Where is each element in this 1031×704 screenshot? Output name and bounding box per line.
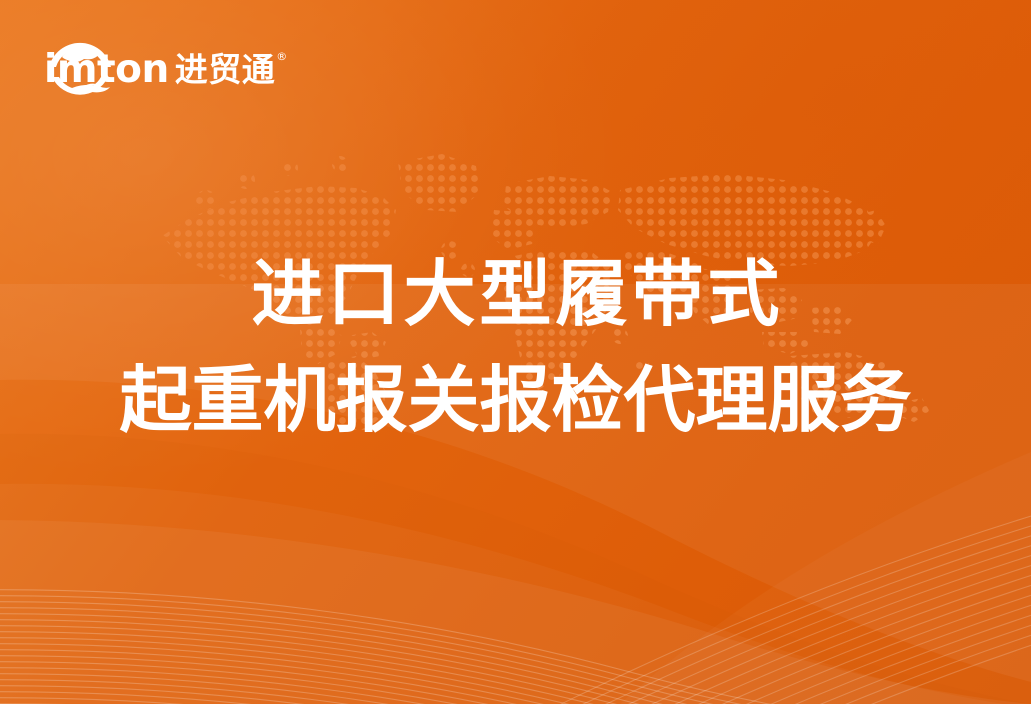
headline-block: 进口大型履带式 起重机报关报检代理服务 [0, 246, 1031, 448]
headline-line-1: 进口大型履带式 [0, 246, 1031, 342]
logo-wordmark: imton 进贸通 ® [44, 50, 287, 89]
logo-chinese-text: 进贸通 [175, 53, 276, 86]
promo-banner: imton 进贸通 ® 进口大型履带式 起重机报关报检代理服务 [0, 0, 1031, 704]
brand-logo[interactable]: imton 进贸通 ® [44, 26, 116, 104]
registered-trademark-icon: ® [276, 51, 287, 62]
logo-latin-text: imton [44, 50, 169, 89]
headline-line-2: 起重机报关报检代理服务 [0, 352, 1031, 448]
